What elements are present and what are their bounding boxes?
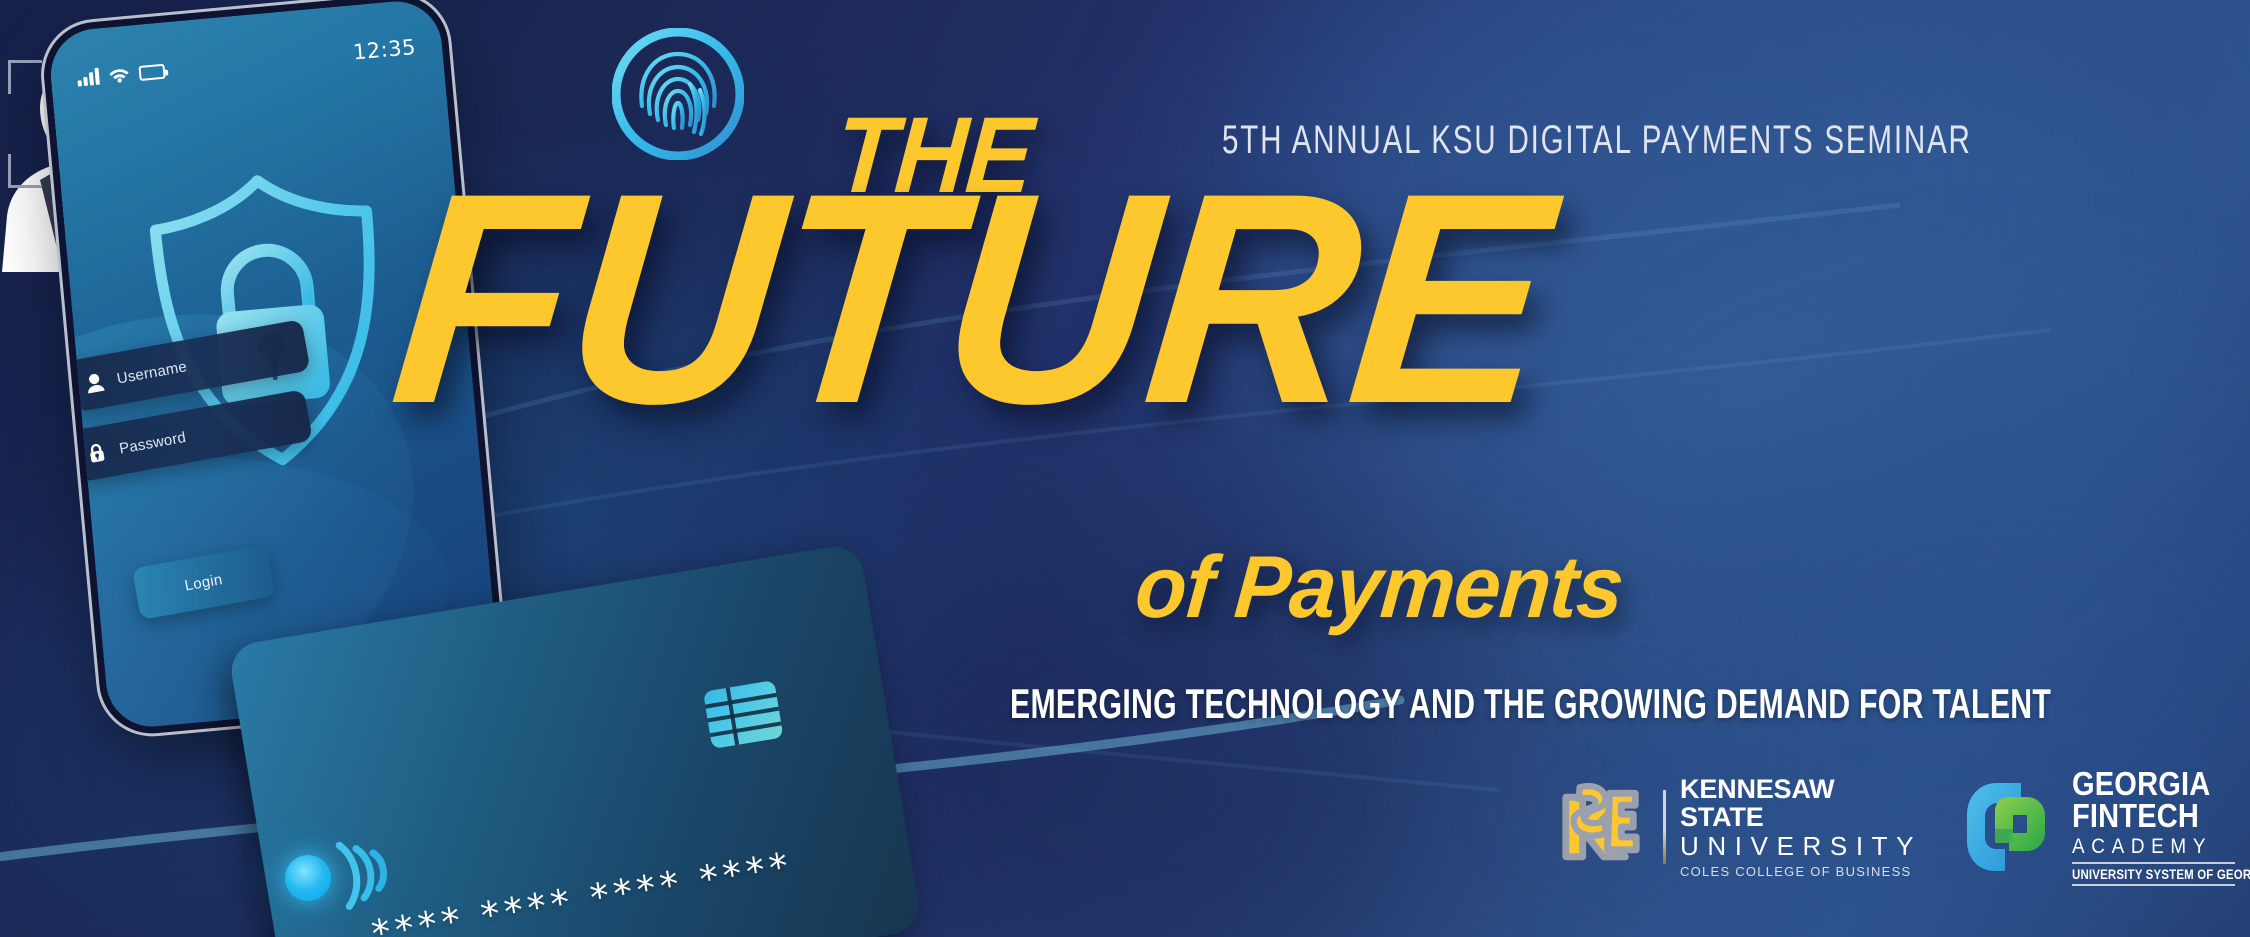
banner-subtitle: EMERGING TECHNOLOGY AND THE GROWING DEMA… xyxy=(1010,680,2051,728)
title-line-future: FUTURE xyxy=(383,148,1558,448)
ksu-name-line2: UNIVERSITY xyxy=(1680,832,1923,861)
password-label: Password xyxy=(118,428,187,457)
phone-status-bar: 12:35 xyxy=(76,34,417,91)
kennesaw-state-university-logo: KENNESAW STATE UNIVERSITY COLES COLLEGE … xyxy=(1550,775,1923,879)
gfa-line-georgia: GEORGIA xyxy=(2072,768,2250,800)
gfa-line-system: UNIVERSITY SYSTEM OF GEORGIA xyxy=(2072,866,2250,882)
face-scan-bracket-bottom-left xyxy=(8,154,42,188)
battery-icon xyxy=(138,64,165,81)
phone-clock: 12:35 xyxy=(352,35,417,65)
nfc-contactless-icon xyxy=(327,822,411,922)
georgia-fintech-academy-icon xyxy=(1963,777,2059,877)
card-number: **** **** **** **** xyxy=(369,844,797,937)
georgia-fintech-academy-logo: GEORGIA FINTECH ACADEMY UNIVERSITY SYSTE… xyxy=(1963,768,2250,885)
username-label: Username xyxy=(115,358,188,387)
title-line-of-payments: of Payments xyxy=(1132,536,1627,638)
ksu-logo-divider xyxy=(1663,790,1666,864)
gfa-rule-top xyxy=(2072,862,2235,864)
gfa-line-academy: ACADEMY xyxy=(2072,835,2250,859)
logo-row: KENNESAW STATE UNIVERSITY COLES COLLEGE … xyxy=(1550,768,2250,886)
face-scan-bracket-top-left xyxy=(8,60,42,94)
gfa-rule-bottom xyxy=(2072,884,2235,886)
emv-chip-icon xyxy=(703,680,784,749)
gfa-line-fintech: FINTECH xyxy=(2072,800,2250,832)
wifi-icon xyxy=(107,64,131,84)
ksu-college-line: COLES COLLEGE OF BUSINESS xyxy=(1680,864,1923,879)
network-node-dot xyxy=(285,855,331,901)
ksu-name-line1: KENNESAW STATE xyxy=(1680,775,1923,832)
ksu-monogram-icon xyxy=(1550,777,1649,877)
seminar-promo-banner: 12:35 xyxy=(0,0,2250,937)
signal-bars-icon xyxy=(76,67,99,87)
